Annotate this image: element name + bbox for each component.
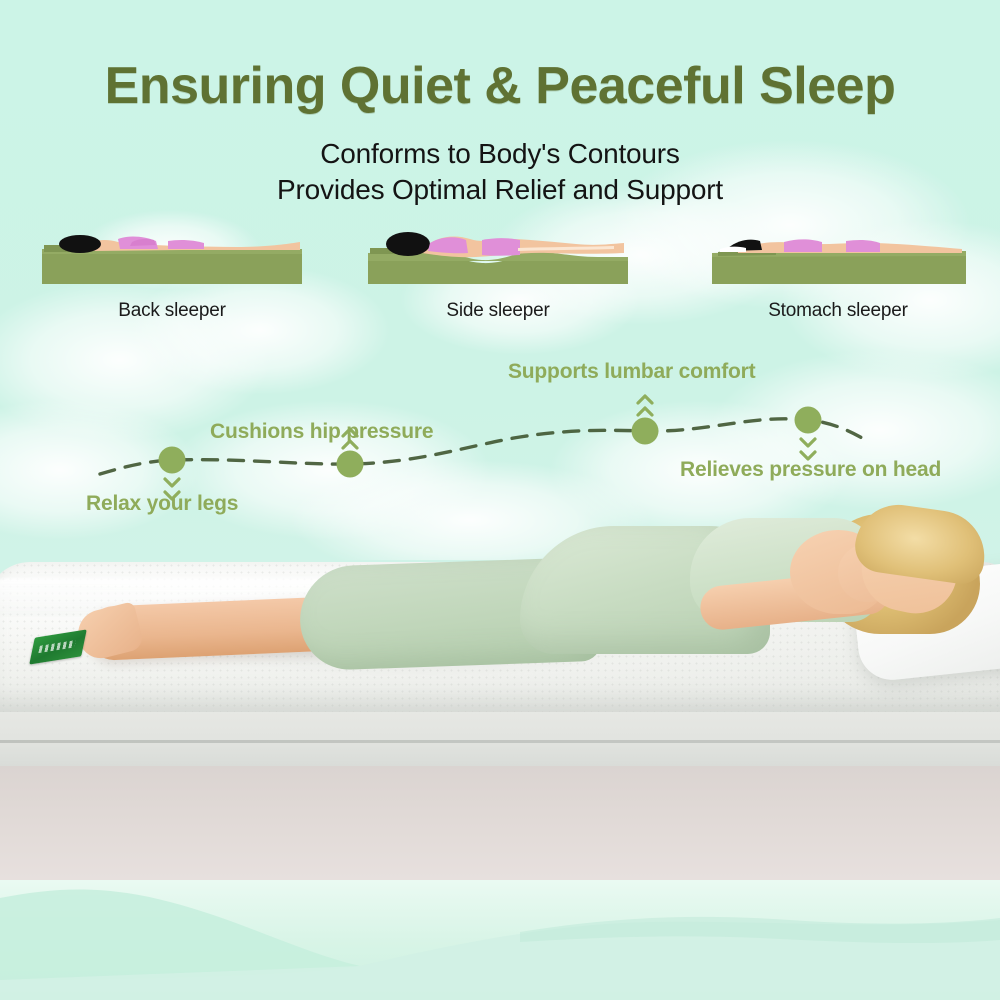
sleeper-positions-group: Back sleeper Side sleeper (0, 222, 1000, 342)
sleeper-caption: Stomach sleeper (698, 300, 978, 322)
annotation-label-hip: Cushions hip pressure (210, 420, 433, 444)
annotation-dot-hip (337, 451, 364, 478)
sleeper-card-side: Side sleeper (358, 222, 638, 322)
page-title: Ensuring Quiet & Peaceful Sleep (0, 56, 1000, 116)
annotation-label-lumbar: Supports lumbar comfort (508, 360, 755, 384)
sleeper-card-back: Back sleeper (32, 222, 312, 322)
sleeper-caption: Back sleeper (32, 300, 312, 322)
sleeper-card-stomach: Stomach sleeper (698, 222, 978, 322)
subtitle-line-2: Provides Optimal Relief and Support (0, 174, 1000, 206)
bottom-wave-band (0, 880, 1000, 1000)
product-photo (0, 500, 1000, 880)
annotation-dot-legs (159, 447, 186, 474)
infographic-canvas: Ensuring Quiet & Peaceful Sleep Conforms… (0, 0, 1000, 1000)
sleeper-caption: Side sleeper (358, 300, 638, 322)
subtitle-line-1: Conforms to Body's Contours (0, 138, 1000, 170)
side-sleeper-illustration (358, 222, 638, 284)
annotation-dot-lumbar (632, 418, 659, 445)
back-sleeper-illustration (32, 222, 312, 284)
annotation-dot-head (795, 407, 822, 434)
mattress-seam-line (0, 740, 1000, 743)
bed-base (0, 748, 1000, 880)
annotation-label-head: Relieves pressure on head (680, 458, 941, 482)
stomach-sleeper-illustration (698, 222, 978, 284)
